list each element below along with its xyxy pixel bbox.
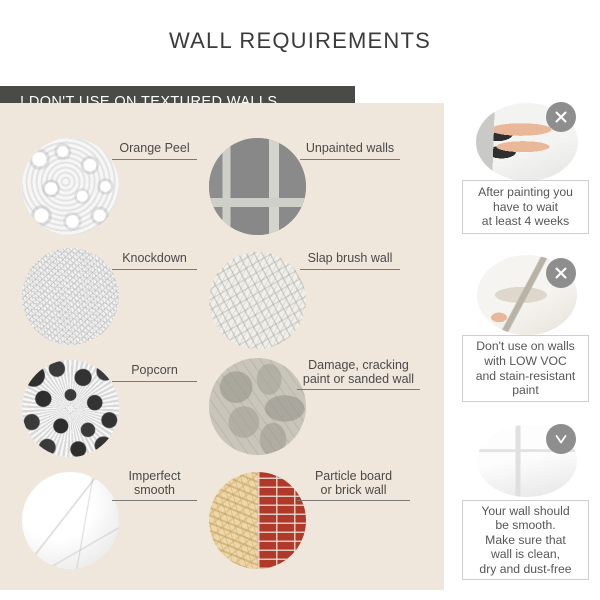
sample-label-particle-board-brick: Particle board or brick wall <box>297 470 410 501</box>
swatch-popcorn <box>22 360 119 457</box>
sample-label-popcorn: Popcorn <box>112 364 197 382</box>
side-card-text-smooth-clean-wall: Your wall should be smooth. Make sure th… <box>462 500 589 580</box>
sample-label-knockdown: Knockdown <box>112 252 197 270</box>
check-icon <box>546 424 576 454</box>
sample-label-damage-cracking: Damage, cracking paint or sanded wall <box>297 359 420 390</box>
imperfect-smooth-texture-icon <box>22 472 119 569</box>
page-title: WALL REQUIREMENTS <box>0 28 600 54</box>
sample-label-orange-peel: Orange Peel <box>112 142 197 160</box>
orange-peel-texture-icon <box>22 138 119 235</box>
unpainted-walls-texture-icon <box>209 138 306 235</box>
swatch-slap-brush-wall <box>209 252 306 349</box>
sample-label-slap-brush-wall: Slap brush wall <box>300 252 400 270</box>
knockdown-texture-icon <box>22 248 119 345</box>
swatch-unpainted-walls <box>209 138 306 235</box>
swatch-knockdown <box>22 248 119 345</box>
damage-cracking-texture-icon <box>209 358 306 455</box>
swatch-imperfect-smooth <box>22 472 119 569</box>
cross-icon <box>546 102 576 132</box>
side-card-text-wait-4-weeks: After painting you have to wait at least… <box>462 180 589 234</box>
particle-board-brick-texture-icon <box>209 472 306 569</box>
slap-brush-texture-icon <box>209 252 306 349</box>
swatch-particle-board-brick <box>209 472 306 569</box>
sample-label-unpainted-walls: Unpainted walls <box>300 142 400 160</box>
swatch-orange-peel <box>22 138 119 235</box>
popcorn-texture-icon <box>22 360 119 457</box>
sample-label-imperfect-smooth: Imperfect smooth <box>112 470 197 501</box>
side-card-text-low-voc: Don't use on walls with LOW VOC and stai… <box>462 335 589 402</box>
cross-icon <box>546 258 576 288</box>
swatch-damage-cracking <box>209 358 306 455</box>
